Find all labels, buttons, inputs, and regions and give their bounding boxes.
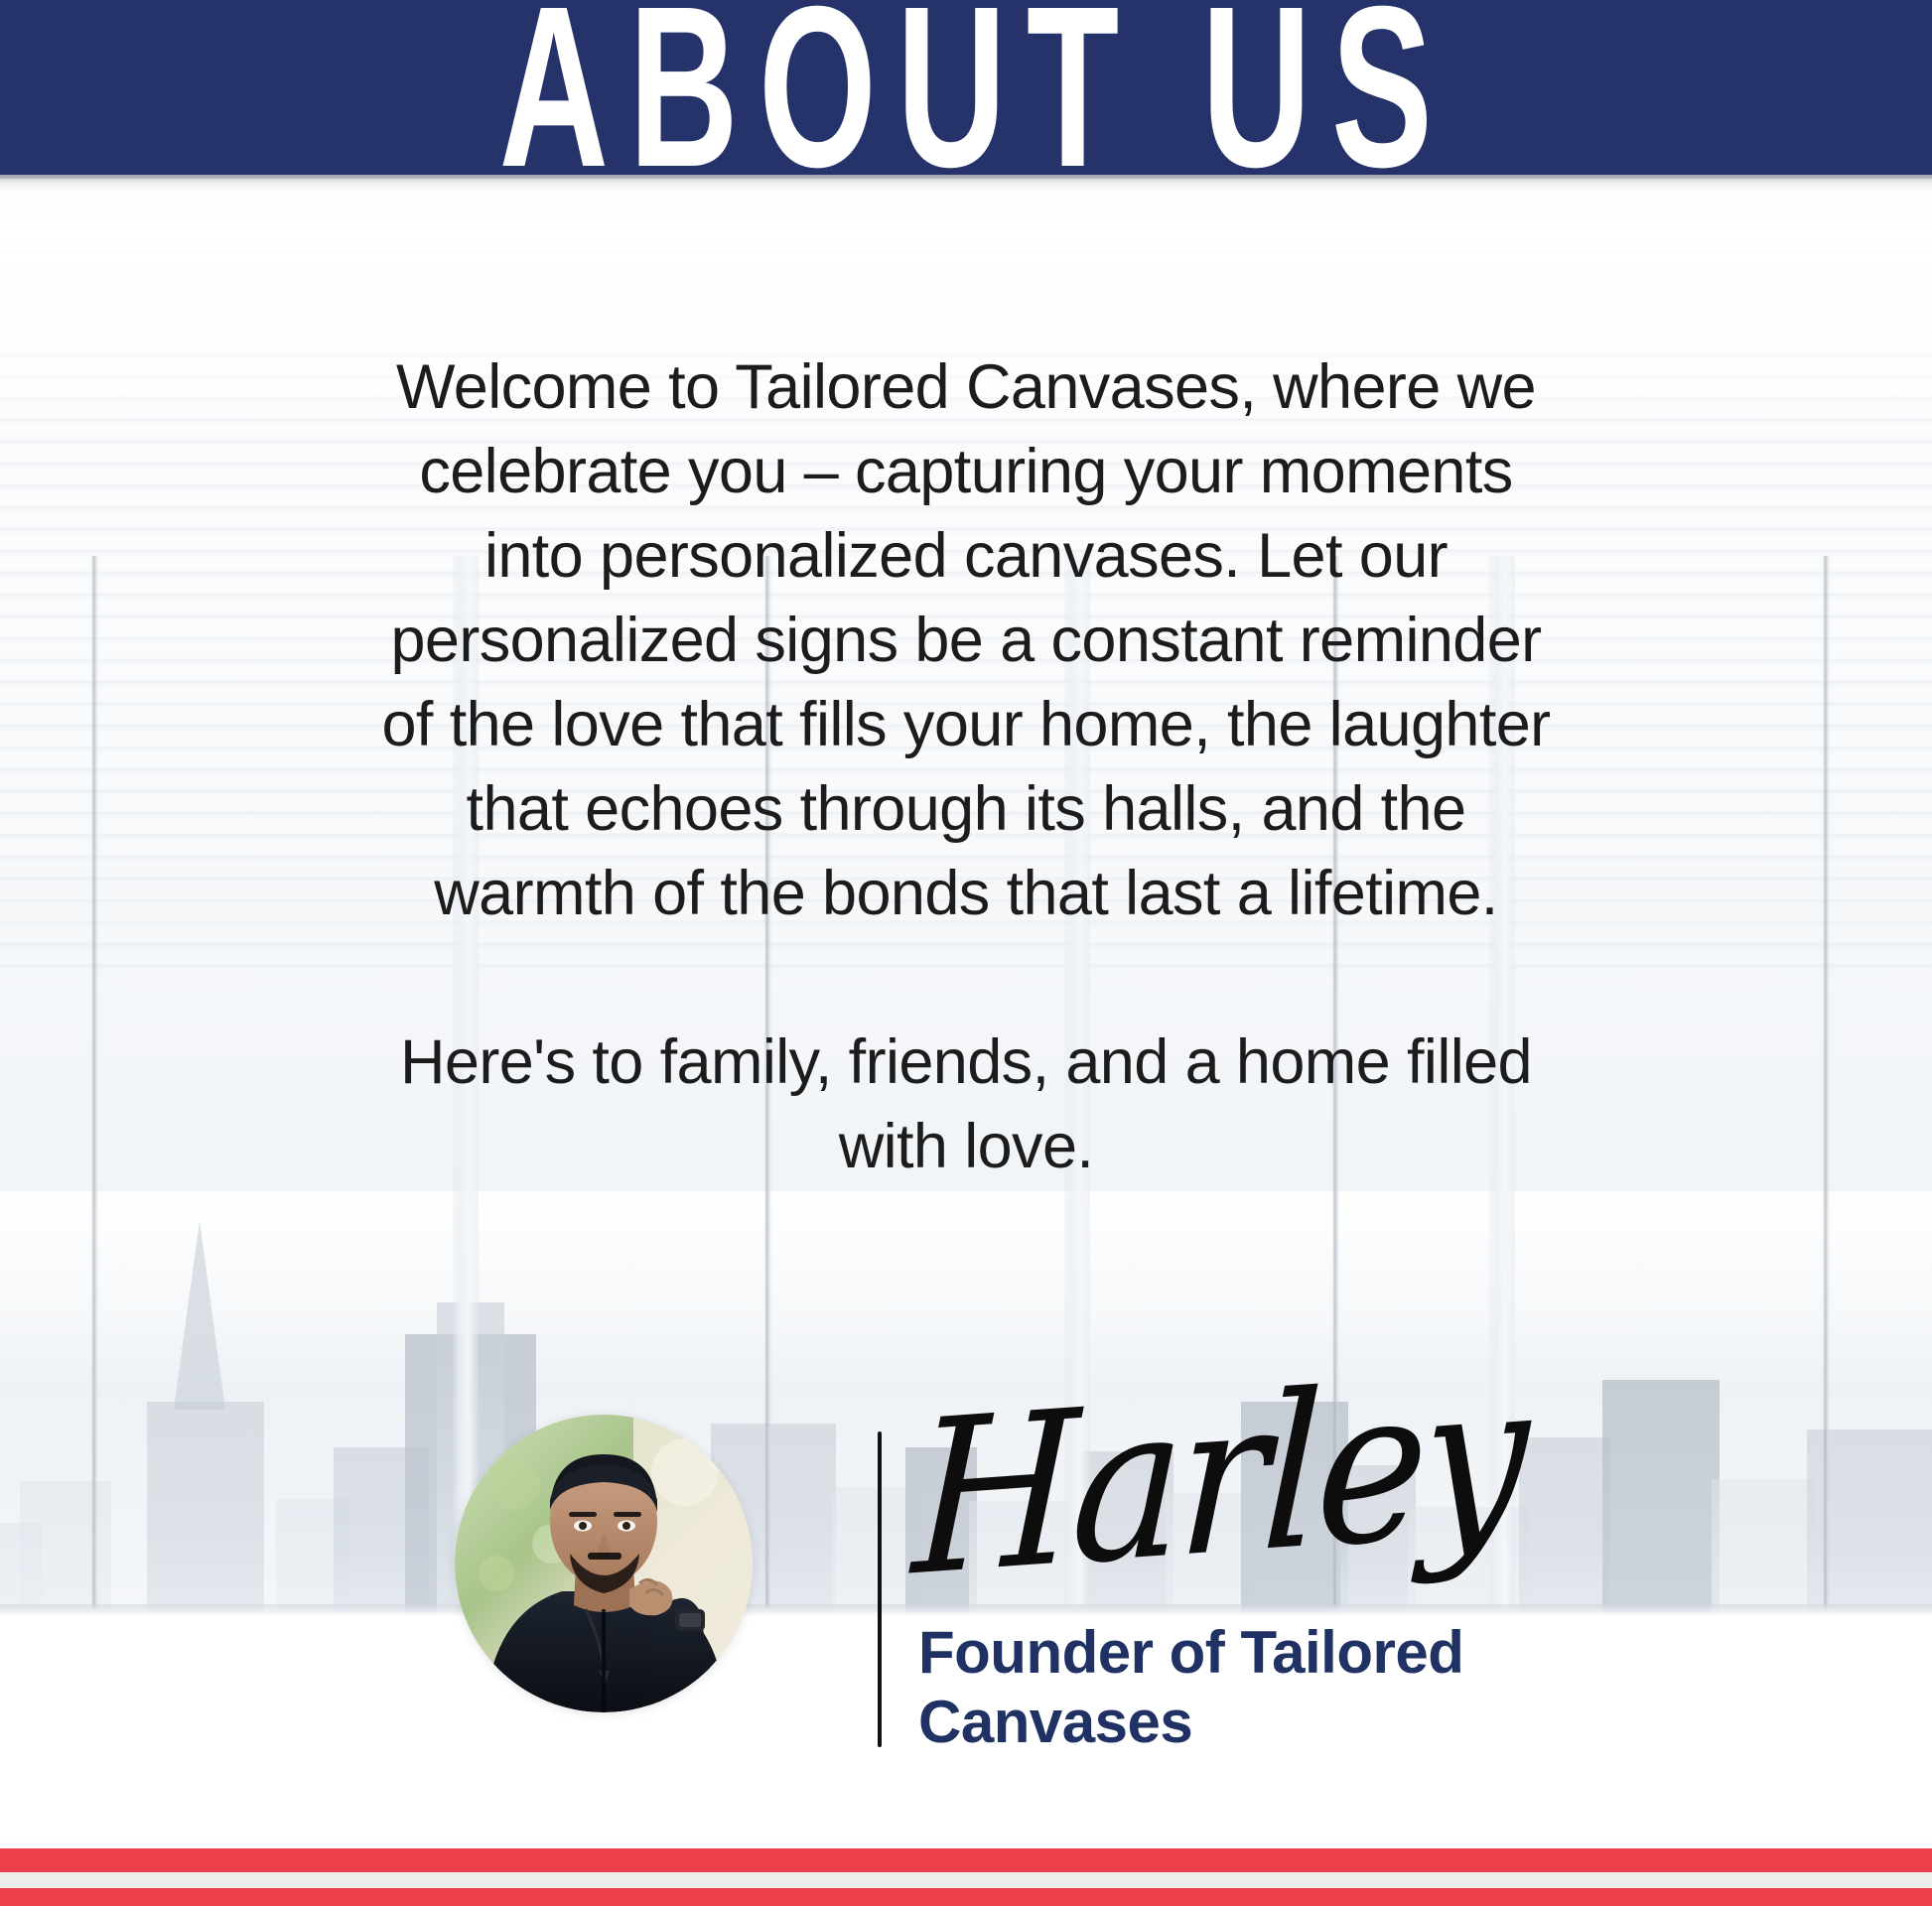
paragraph-line: Welcome to Tailored Canvases, where we <box>231 345 1701 430</box>
footer-gap <box>0 1872 1932 1888</box>
avatar <box>455 1415 753 1712</box>
about-us-poster: ABOUT US Welcome to Tailored Canvases, w… <box>0 0 1932 1906</box>
footer-red-bar-top <box>0 1848 1932 1872</box>
footer-red-bar-bottom <box>0 1888 1932 1906</box>
signature-role-line-1: Founder of Tailored <box>918 1618 1574 1688</box>
tower-spire <box>174 1221 225 1410</box>
building <box>1519 1437 1610 1618</box>
header-shadow <box>0 175 1932 193</box>
paragraph-spacer <box>231 936 1701 1021</box>
paragraph-line: of the love that fills your home, the la… <box>231 683 1701 767</box>
window-mullion <box>1823 556 1830 1608</box>
building <box>1712 1479 1815 1618</box>
paragraph-line: Here's to family, friends, and a home fi… <box>231 1021 1701 1105</box>
window-mullion <box>91 556 98 1608</box>
header-bar: ABOUT US <box>0 0 1932 175</box>
building <box>147 1402 264 1618</box>
paragraph-line: with love. <box>231 1105 1701 1189</box>
skyline-haze <box>0 1191 1932 1390</box>
paragraph-line: personalized signs be a constant reminde… <box>231 599 1701 683</box>
founder-portrait-image <box>455 1415 753 1712</box>
building <box>1602 1380 1720 1618</box>
page-title: ABOUT US <box>480 0 1453 175</box>
signature-role: Founder of Tailored Canvases <box>918 1618 1574 1757</box>
signature-role-line-2: Canvases <box>918 1688 1574 1757</box>
paragraph-line: celebrate you – capturing your moments <box>231 430 1701 514</box>
paragraph-line: that echoes through its halls, and the <box>231 767 1701 852</box>
paragraph-line: into personalized canvases. Let our <box>231 514 1701 599</box>
paragraph-line: warmth of the bonds that last a lifetime… <box>231 852 1701 936</box>
about-us-copy: Welcome to Tailored Canvases, where we c… <box>231 345 1701 1189</box>
signature-divider <box>878 1431 882 1747</box>
signature-name: Harley <box>908 1330 1513 1662</box>
